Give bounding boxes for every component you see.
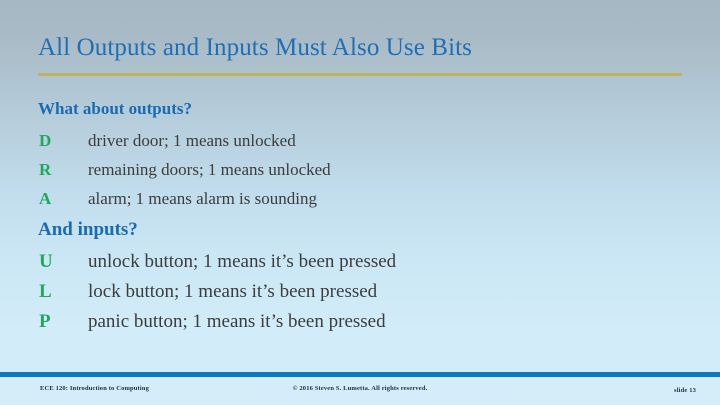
list-item-description: remaining doors; 1 means unlocked — [88, 160, 331, 180]
list-item-symbol: U — [39, 251, 53, 273]
section-heading-inputs: And inputs? — [38, 219, 138, 241]
list-item-symbol: P — [39, 311, 51, 333]
list-item-description: alarm; 1 means alarm is sounding — [88, 189, 317, 209]
list-item-description: driver door; 1 means unlocked — [88, 131, 296, 151]
page-title: All Outputs and Inputs Must Also Use Bit… — [38, 33, 472, 63]
footer-divider-bar — [0, 372, 720, 377]
list-item-symbol: R — [39, 160, 51, 180]
slide-canvas: All Outputs and Inputs Must Also Use Bit… — [0, 0, 720, 405]
list-item-symbol: D — [39, 131, 51, 151]
list-item-description: unlock button; 1 means it’s been pressed — [88, 251, 396, 273]
slide-footer: ECE 120: Introduction to Computing © 201… — [0, 385, 720, 399]
title-divider — [38, 73, 682, 76]
footer-copyright-label: © 2016 Steven S. Lumetta. All rights res… — [0, 385, 720, 392]
list-item-symbol: A — [39, 189, 51, 209]
footer-slide-number: slide 13 — [674, 387, 696, 394]
list-item-description: lock button; 1 means it’s been pressed — [88, 281, 377, 303]
list-item-symbol: L — [39, 281, 52, 303]
section-heading-outputs: What about outputs? — [38, 99, 192, 119]
list-item-description: panic button; 1 means it’s been pressed — [88, 311, 386, 333]
